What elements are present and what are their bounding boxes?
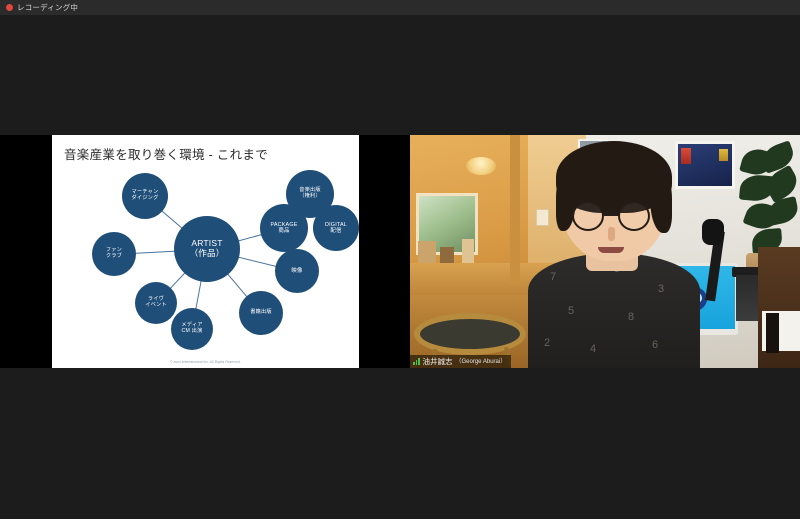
diagram-node-label: 書籍出版 <box>250 310 272 316</box>
shelf-object-a <box>418 241 436 265</box>
diagram-node-label: イベント <box>145 303 167 309</box>
shirt-digit: 5 <box>568 305 574 317</box>
diagram-node-label: （作品） <box>190 249 225 259</box>
diagram-node-merch: マーチャンダイジング <box>122 173 168 219</box>
eyeglass-bridge <box>603 213 619 216</box>
participant-name-en: （George Aburai） <box>456 359 507 365</box>
piano-keys <box>762 311 800 351</box>
shirt-digit: 8 <box>628 311 634 323</box>
diagram-node-label: 映像 <box>291 268 302 274</box>
recording-bar: レコーディング中 <box>0 0 800 15</box>
diagram-node-fanclub: ファンクラブ <box>92 232 136 276</box>
wall-poster-large <box>675 141 735 189</box>
diagram-node-video: 映像 <box>275 249 319 293</box>
participant-nose <box>608 227 615 241</box>
diagram-node-media-cm: メディアCM 出演 <box>171 308 213 350</box>
diagram-node-digital: DIGITAL配信 <box>313 205 359 251</box>
diagram-node-label: 商品 <box>278 228 289 234</box>
wall-switch <box>536 209 549 226</box>
diagram-node-label: CM 出演 <box>182 329 203 335</box>
diagram-node-live-event: ライヴイベント <box>135 282 177 324</box>
eyeglass-lens-left <box>572 201 604 231</box>
door-frame <box>510 135 520 285</box>
eyebrow-left <box>576 195 600 198</box>
microphone <box>702 219 724 245</box>
slide-copyright: © avex entertainment Inc. All Rights Res… <box>52 360 359 364</box>
mini-trampoline <box>414 313 526 355</box>
participant-hair <box>556 141 672 213</box>
piano-black-key <box>766 313 779 323</box>
eyeglass-lens-right <box>618 201 650 231</box>
diagram-node-label: （権利） <box>299 194 321 200</box>
participant-name-badge: 油井誠志 （George Aburai） <box>410 355 511 368</box>
diagram-node-label: ダイジング <box>132 196 159 202</box>
piano-black-key <box>766 323 779 333</box>
diagram-node-book-pub: 書籍出版 <box>239 291 283 335</box>
meeting-stage: 音楽産業を取り巻く環境 - これまで ARTIST（作品）マーチャンダイジングフ… <box>0 135 800 368</box>
diagram-node-label: クラブ <box>106 254 122 260</box>
shirt-digit: 2 <box>544 337 550 349</box>
plant-leaf <box>766 196 800 226</box>
piano-black-key <box>766 343 779 353</box>
shirt-digit: 4 <box>590 343 596 355</box>
participant-video-tile[interactable]: avex 79358246 <box>410 135 800 368</box>
shirt-digit: 7 <box>550 271 556 283</box>
diagram-node-label: 配信 <box>330 228 341 234</box>
diagram-node-package: PACKAGE商品 <box>260 204 308 252</box>
diagram-node-artist: ARTIST（作品） <box>174 216 240 282</box>
shelf-object-c <box>462 239 474 265</box>
zoom-meeting-window: レコーディング中 音楽産業を取り巻く環境 - これまで ARTIST（作品）マー… <box>0 0 800 519</box>
ceiling-light <box>466 157 496 175</box>
participant-name-jp: 油井誠志 <box>423 358 453 366</box>
recording-label: レコーディング中 <box>17 4 78 12</box>
shirt-digit: 6 <box>652 339 658 351</box>
shirt-digit: 3 <box>658 283 664 295</box>
record-dot-icon <box>6 4 13 11</box>
slide-diagram: ARTIST（作品）マーチャンダイジングファンクラブライヴイベントメディアCM … <box>52 161 359 351</box>
shared-screen-pane[interactable]: 音楽産業を取り巻く環境 - これまで ARTIST（作品）マーチャンダイジングフ… <box>52 135 359 368</box>
participant-mouth <box>598 247 624 253</box>
signal-strength-icon <box>413 358 420 365</box>
eyebrow-right <box>622 195 646 198</box>
piano-black-key <box>766 333 779 343</box>
